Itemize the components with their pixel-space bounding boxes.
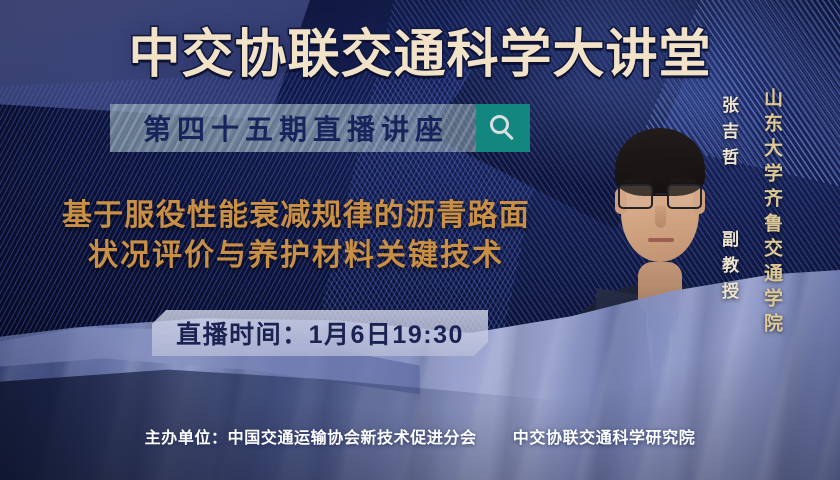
live-lecture-poster: 中交协联交通科学大讲堂 第四十五期直播讲座 基于服役性能衰减规律的沥青路面 状况… [0,0,840,480]
search-button[interactable] [476,104,530,152]
episode-label: 第四十五期直播讲座 [137,108,449,148]
speaker-name: 张吉哲 副教授 [716,96,741,246]
episode-bar: 第四十五期直播讲座 [110,104,530,152]
broadcast-time-label: 直播时间：1月6日19:30 [176,315,464,351]
footer: 主办单位：中国交通运输协会新技术促进分会 中交协联交通科学研究院 [0,424,840,448]
page-title: 中交协联交通科学大讲堂 [0,12,840,87]
footer-organizer: 主办单位：中国交通运输协会新技术促进分会 [145,430,477,447]
lecture-title-line2: 状况评价与养护材料关键技术 [18,236,574,276]
episode-bar-body: 第四十五期直播讲座 [110,104,476,152]
lecture-title: 基于服役性能衰减规律的沥青路面 状况评价与养护材料关键技术 [18,196,574,276]
search-icon [490,115,516,141]
footer-institute: 中交协联交通科学研究院 [513,430,696,447]
lecture-title-line1: 基于服役性能衰减规律的沥青路面 [18,196,574,236]
speaker-affiliation: 山东大学齐鲁交通学院 [758,88,785,304]
broadcast-time-badge: 直播时间：1月6日19:30 [152,310,488,356]
search-icon-handle [504,130,514,140]
